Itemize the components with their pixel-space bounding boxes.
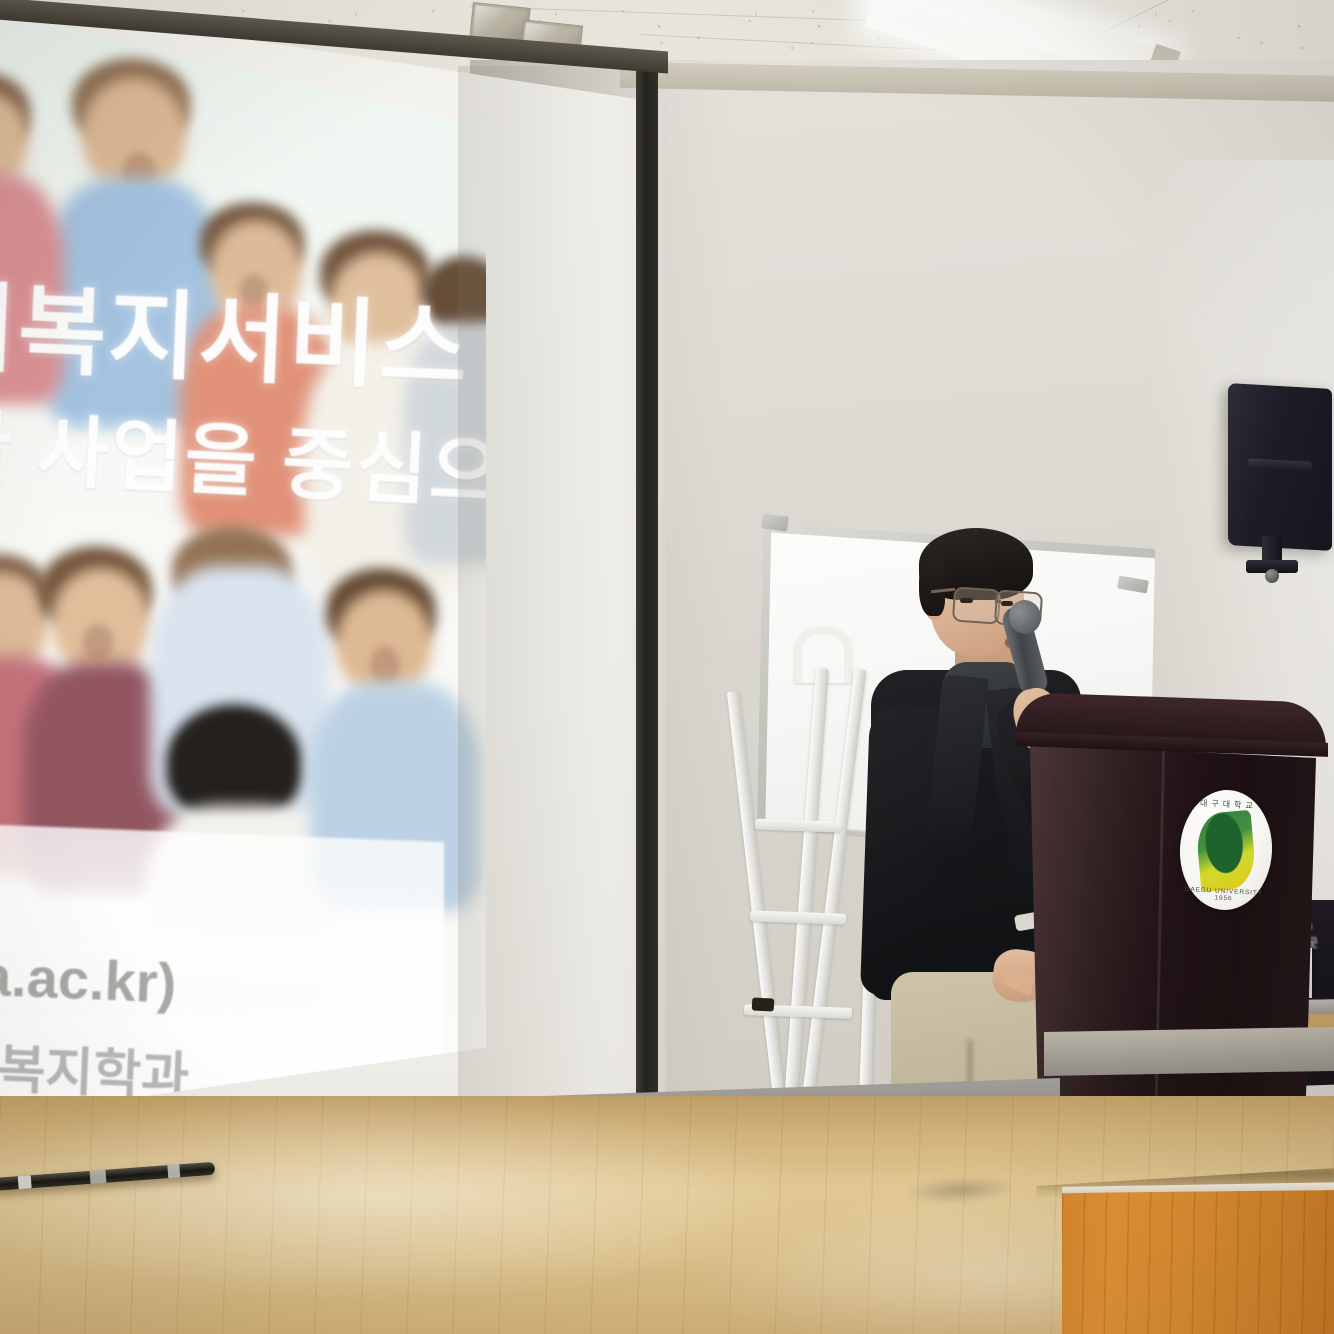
rod-band — [90, 1170, 107, 1184]
speaker-bracket-knob — [1265, 569, 1279, 583]
screen-shading — [458, 66, 643, 1136]
projection-screen: 리복지서비스 한 사업을 중심으로 증 na.ac.kr) 회복지학과 — [0, 0, 678, 1170]
presenter-eye-left — [960, 598, 973, 603]
wood-grain-texture — [1062, 1186, 1334, 1334]
projected-slide: 리복지서비스 한 사업을 중심으로 증 na.ac.kr) 회복지학과 — [0, 6, 486, 1126]
lecture-hall-photo: 비상구 안내 나가는곳 — [0, 0, 1334, 1334]
screen-side-border — [636, 66, 658, 1146]
emblem-crest — [1195, 810, 1258, 893]
glasses-lens-left — [952, 586, 1001, 624]
slide-caption-line2: na.ac.kr) — [0, 941, 178, 1016]
rod-band — [18, 1175, 32, 1189]
baseboard-right — [1044, 1027, 1334, 1076]
university-emblem: 대구대학교 DAEGU UNIVERSITY 1956 — [1177, 788, 1275, 913]
whiteboard-clip — [761, 513, 789, 531]
rod-band — [167, 1164, 180, 1178]
presenter-sideburn — [919, 558, 945, 616]
slide-headline-line1: 리복지서비스 — [0, 249, 473, 411]
